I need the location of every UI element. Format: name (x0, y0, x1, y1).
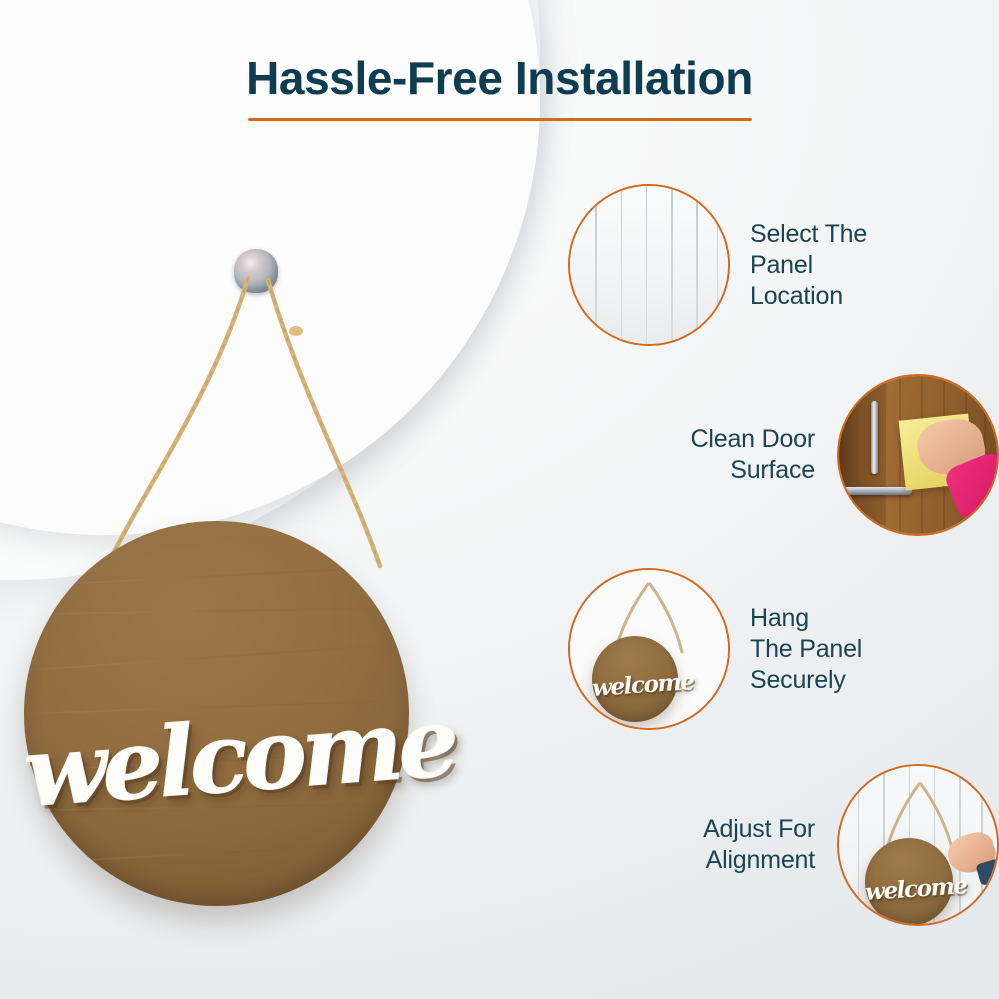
step-image-1 (568, 184, 730, 346)
step-label-4: Adjust For Alignment (568, 814, 837, 876)
step-item-3: welcome Hang The Panel Securely (568, 560, 999, 738)
step-label-3: Hang The Panel Securely (730, 603, 999, 696)
white-backdrop: welcome (570, 570, 728, 728)
mounting-knob-icon (234, 249, 278, 293)
infographic-canvas: Hassle-Free Installation (0, 0, 999, 999)
plank-wall-backdrop: welcome (839, 766, 997, 924)
product-hero: welcome (0, 0, 470, 999)
step-item-2: Clean Door Surface (568, 366, 999, 544)
plank-wall-illustration (570, 186, 728, 344)
step-item-4: welcome Adjust For Alignment (568, 756, 999, 934)
step-item-1: Select The Panel Location (568, 176, 999, 354)
step-label-2: Clean Door Surface (568, 424, 837, 486)
step-image-3: welcome (568, 568, 730, 730)
step-label-1: Select The Panel Location (730, 219, 999, 312)
step-image-4: welcome (837, 764, 999, 926)
wooden-door-illustration (839, 376, 997, 534)
installation-steps: Select The Panel Location Clean Door Sur… (568, 176, 999, 966)
door-handle-vertical-icon (871, 401, 878, 474)
step-image-2 (837, 374, 999, 536)
door-handle-horizontal-icon (842, 487, 912, 495)
welcome-sign: welcome (24, 521, 409, 906)
